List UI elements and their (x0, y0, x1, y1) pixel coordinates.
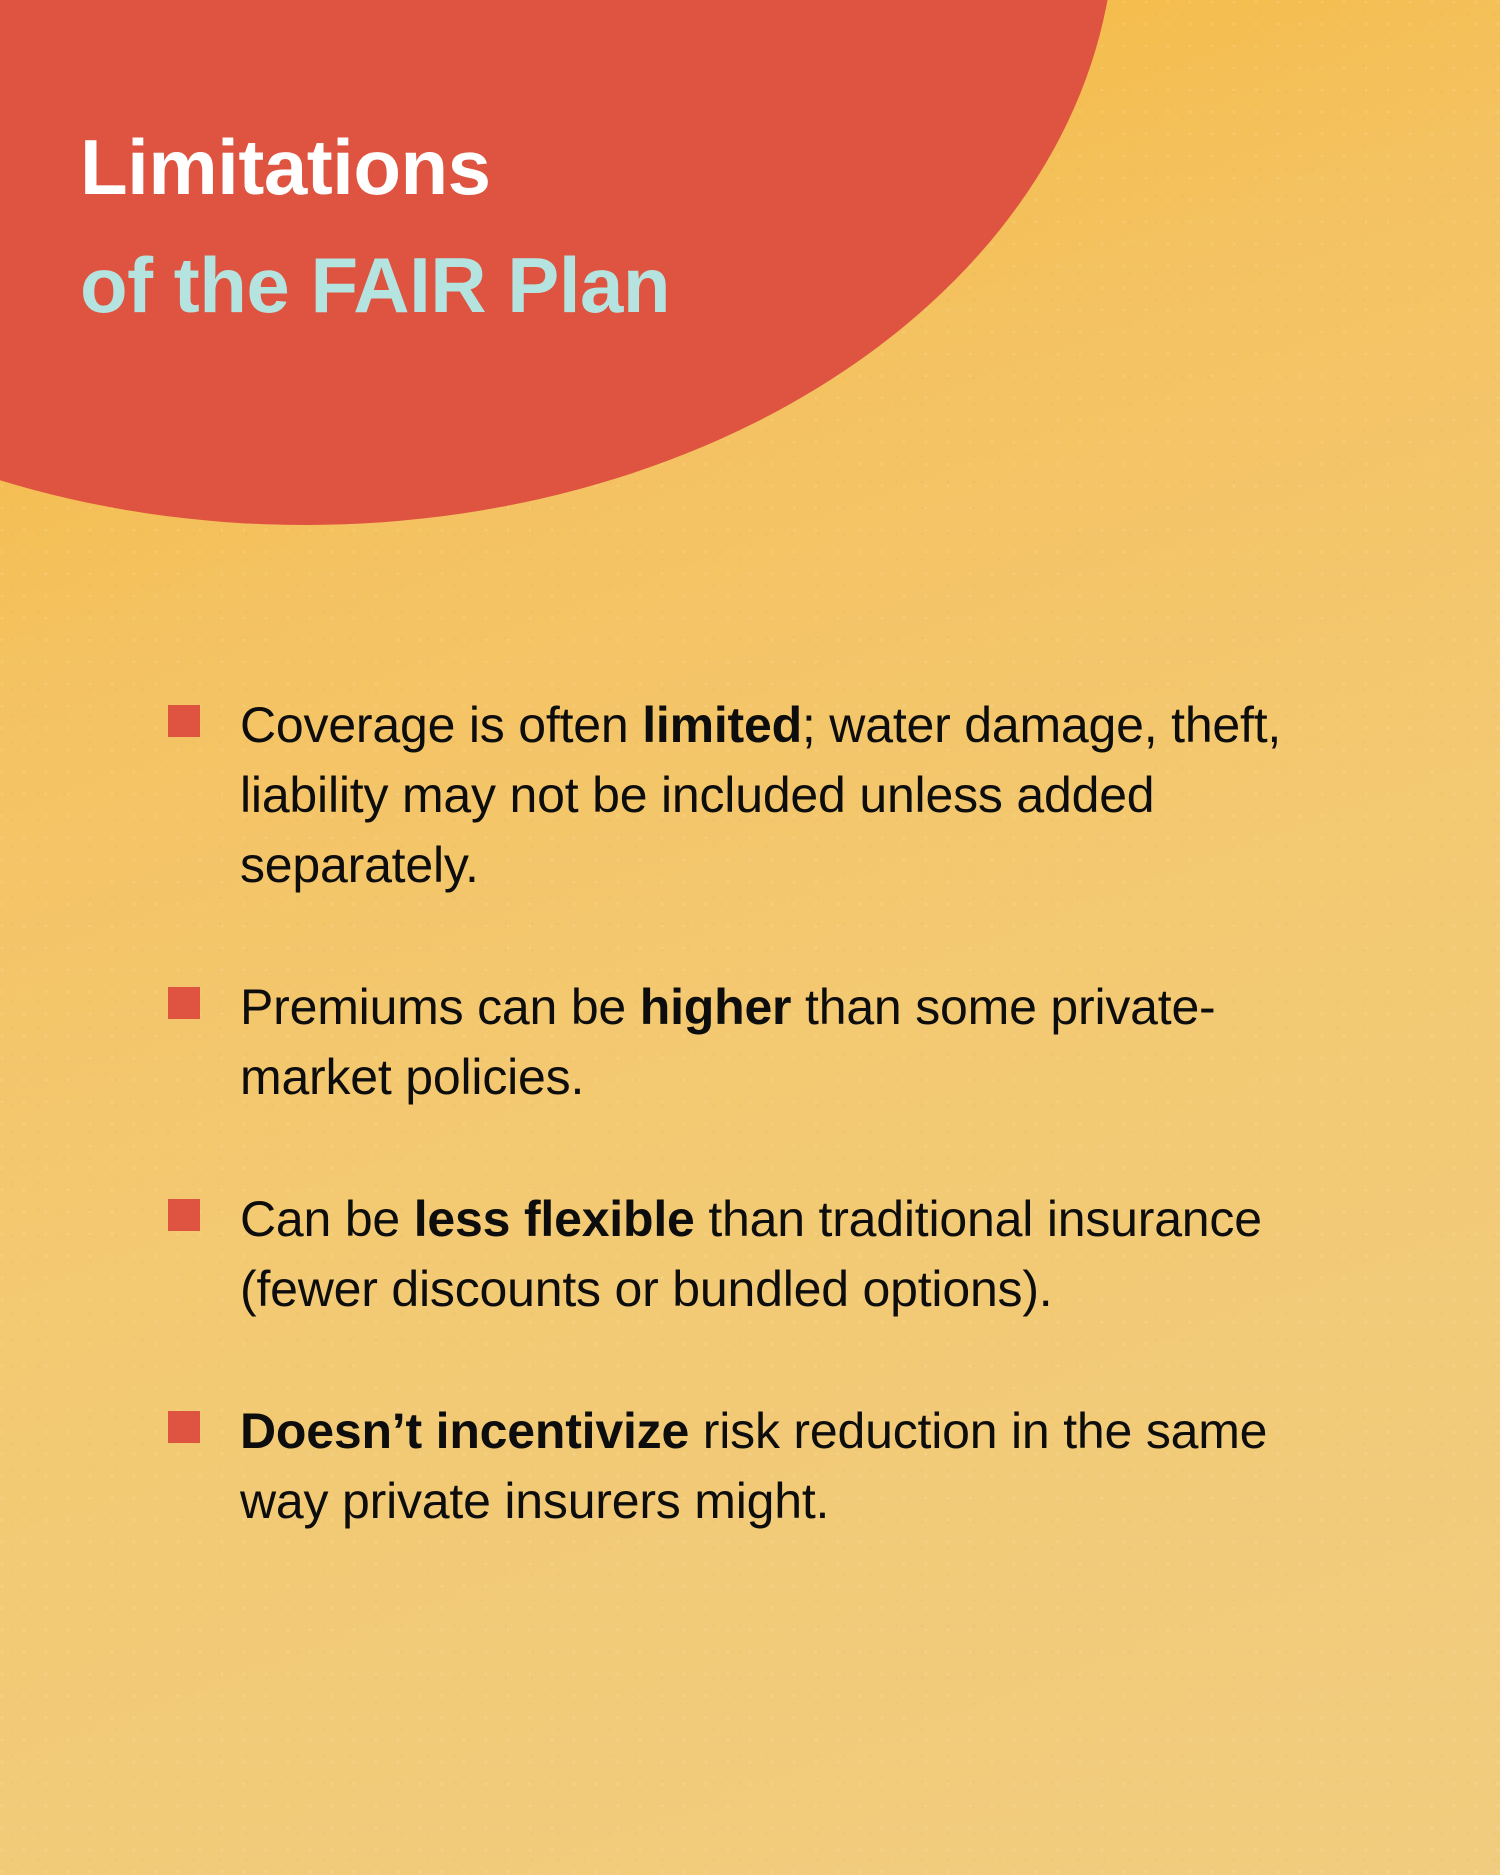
list-item: Premiums can be higher than some private… (168, 972, 1348, 1112)
page-title: Limitations of the FAIR Plan (80, 108, 1080, 344)
list-item: Can be less flexible than traditional in… (168, 1184, 1348, 1324)
square-bullet-icon (168, 1199, 200, 1231)
list-item-text: Coverage is often limited; water damage,… (240, 690, 1348, 900)
emphasis-text: limited (642, 697, 802, 753)
square-bullet-icon (168, 987, 200, 1019)
list-item-text: Doesn’t incentivize risk reduction in th… (240, 1396, 1348, 1536)
body-text: Premiums can be (240, 979, 640, 1035)
infographic-poster: Limitations of the FAIR Plan Coverage is… (0, 0, 1500, 1875)
emphasis-text: higher (640, 979, 792, 1035)
title-line-primary: Limitations (80, 108, 1080, 226)
list-item-text: Can be less flexible than traditional in… (240, 1184, 1348, 1324)
list-item: Coverage is often limited; water damage,… (168, 690, 1348, 900)
emphasis-text: less flexible (414, 1191, 695, 1247)
square-bullet-icon (168, 1411, 200, 1443)
list-item-text: Premiums can be higher than some private… (240, 972, 1348, 1112)
emphasis-text: Doesn’t incentivize (240, 1403, 689, 1459)
limitations-list: Coverage is often limited; water damage,… (168, 690, 1348, 1536)
list-item: Doesn’t incentivize risk reduction in th… (168, 1396, 1348, 1536)
body-text: Coverage is often (240, 697, 642, 753)
square-bullet-icon (168, 705, 200, 737)
body-text: Can be (240, 1191, 414, 1247)
title-line-secondary: of the FAIR Plan (80, 226, 1080, 344)
